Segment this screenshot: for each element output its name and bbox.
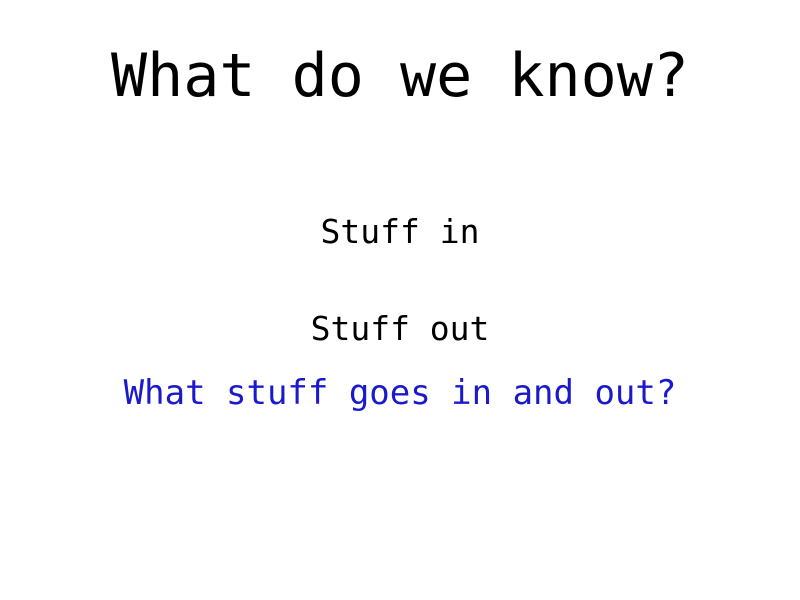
slide-body-line-stuff-out: Stuff out <box>0 312 800 345</box>
slide-title: What do we know? <box>0 46 800 106</box>
presentation-slide: What do we know? Stuff in Stuff out What… <box>0 0 800 600</box>
slide-body-line-question: What stuff goes in and out? <box>0 376 800 410</box>
slide-body-line-stuff-in: Stuff in <box>0 215 800 248</box>
